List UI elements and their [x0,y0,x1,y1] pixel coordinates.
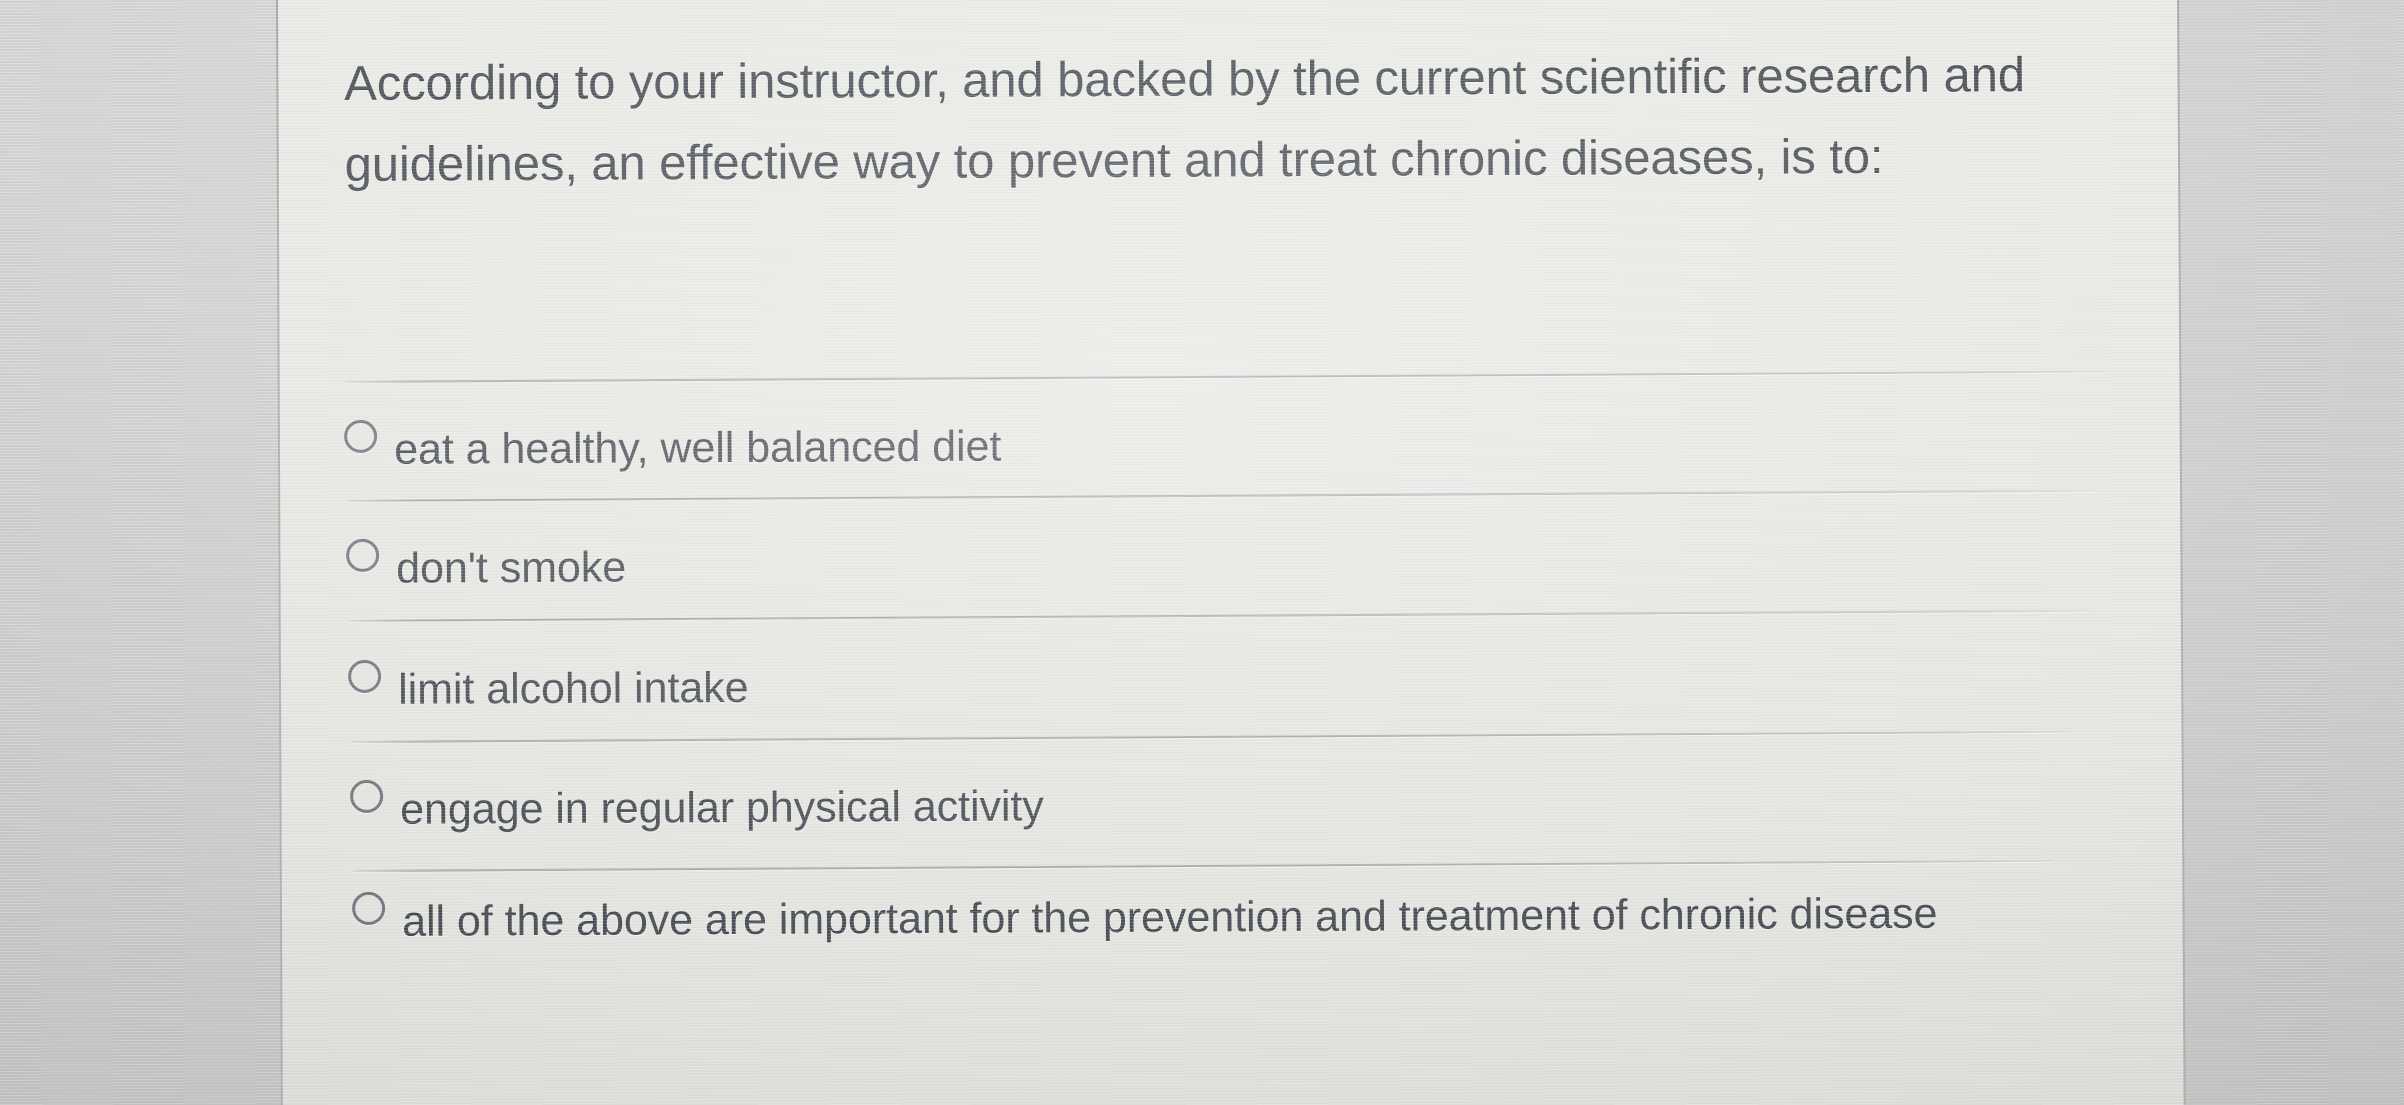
option-separator [351,731,2069,743]
answer-option-row-5[interactable]: all of the above are important for the p… [352,875,2052,960]
answer-option-label: don't smoke [396,530,626,607]
radio-button-icon[interactable] [348,660,381,693]
option-separator [353,860,2053,872]
answer-option-row-2[interactable]: don't smoke [346,530,626,607]
radio-button-icon[interactable] [344,420,377,453]
option-separator [349,610,2091,622]
answer-option-label: engage in regular physical activity [400,768,1044,847]
quiz-question-screenshot: According to your instructor, and backed… [0,0,2404,1105]
radio-button-icon[interactable] [346,539,379,572]
answer-option-row-1[interactable]: eat a healthy, well balanced diet [344,409,1002,488]
answer-option-label: limit alcohol intake [398,650,749,728]
answer-option-row-3[interactable]: limit alcohol intake [348,650,749,728]
option-separator [347,490,2097,502]
answer-option-row-4[interactable]: engage in regular physical activity [350,768,1044,848]
answer-options-list: eat a healthy, well balanced diet don't … [0,0,2404,1105]
radio-button-icon[interactable] [350,780,383,813]
radio-button-icon[interactable] [352,892,385,925]
option-separator [345,371,2108,383]
answer-option-label: eat a healthy, well balanced diet [394,409,1002,488]
answer-option-label: all of the above are important for the p… [402,876,1938,960]
